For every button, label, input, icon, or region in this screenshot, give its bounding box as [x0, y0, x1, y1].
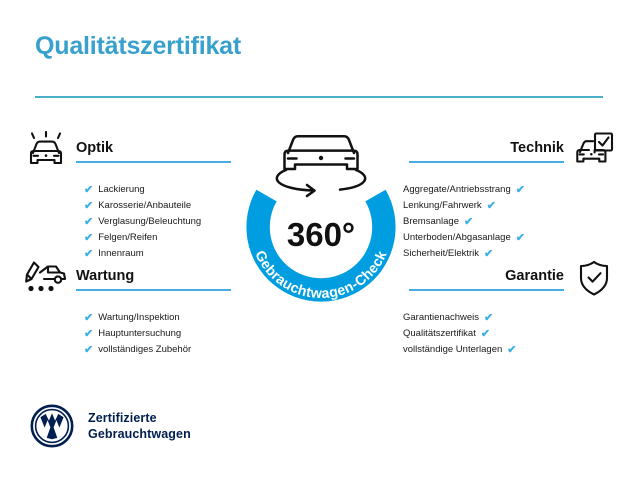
list-item: ✔Karosserie/Anbauteile	[84, 198, 237, 214]
vw-footer: Zertifizierte Gebrauchtwagen	[30, 404, 191, 448]
check-icon: ✔	[84, 185, 93, 196]
list-item: ✔Unterboden/Abgasanlage	[403, 230, 556, 246]
section-title: Optik	[76, 139, 231, 157]
section-header-wartung: Wartung	[22, 256, 237, 302]
check-icon: ✔	[84, 345, 93, 356]
list-item-label: Lenkung/Fahrwerk	[403, 198, 482, 214]
section-technik: Technik ✔Aggregate/Antriebsstrang ✔Lenku…	[403, 128, 618, 262]
check-icon: ✔	[481, 329, 490, 340]
list-item-label: Qualitätszertifikat	[403, 326, 476, 342]
car-rotating-360-icon	[277, 136, 365, 196]
check-icon: ✔	[516, 233, 525, 244]
car-front-checkbox-icon	[570, 129, 618, 173]
list-item: ✔vollständiges Zubehör	[84, 342, 237, 358]
list-item: ✔Lackierung	[84, 182, 237, 198]
section-garantie: Garantie ✔Garantienachweis ✔Qualitätszer…	[403, 256, 618, 358]
section-title-wrap-optik: Optik	[70, 139, 237, 163]
section-divider	[76, 289, 231, 291]
section-divider	[409, 289, 564, 291]
badge-center-label: 360°	[287, 216, 355, 253]
check-icon: ✔	[464, 217, 473, 228]
vw-logo-icon	[30, 404, 74, 448]
list-item-label: Unterboden/Abgasanlage	[403, 230, 511, 246]
checklist-garantie: ✔Garantienachweis ✔Qualitätszertifikat ✔…	[403, 310, 618, 358]
list-item: ✔vollständige Unterlagen	[403, 342, 556, 358]
shield-check-icon	[570, 257, 618, 301]
list-item-label: Felgen/Reifen	[98, 230, 157, 246]
vw-footer-text: Zertifizierte Gebrauchtwagen	[88, 410, 191, 442]
section-title-wrap-wartung: Wartung	[70, 267, 237, 291]
check-icon: ✔	[516, 185, 525, 196]
list-item: ✔Hauptuntersuchung	[84, 326, 237, 342]
certificate-page: Qualitätszertifikat Optik ✔Lackierung ✔K…	[0, 0, 640, 480]
check-icon: ✔	[84, 217, 93, 228]
check-icon: ✔	[507, 345, 516, 356]
vw-footer-line2: Gebrauchtwagen	[88, 426, 191, 442]
section-divider	[76, 161, 231, 163]
vw-footer-line1: Zertifizierte	[88, 410, 191, 426]
header-divider	[35, 96, 603, 98]
section-title-wrap-garantie: Garantie	[403, 267, 570, 291]
section-header-garantie: Garantie	[403, 256, 618, 302]
list-item: ✔Wartung/Inspektion	[84, 310, 237, 326]
check-icon: ✔	[84, 329, 93, 340]
section-title: Wartung	[76, 267, 231, 285]
list-item-label: Garantienachweis	[403, 310, 479, 326]
checklist-technik: ✔Aggregate/Antriebsstrang ✔Lenkung/Fahrw…	[403, 182, 618, 262]
check-icon: ✔	[487, 201, 496, 212]
check-icon: ✔	[84, 313, 93, 324]
check-icon: ✔	[84, 233, 93, 244]
car-front-shine-icon	[22, 129, 70, 173]
section-wartung: Wartung ✔Wartung/Inspektion ✔Hauptunters…	[22, 256, 237, 358]
list-item-label: vollständige Unterlagen	[403, 342, 502, 358]
page-title: Qualitätszertifikat	[35, 32, 241, 61]
section-title: Technik	[409, 139, 564, 157]
list-item: ✔Qualitätszertifikat	[403, 326, 556, 342]
section-divider	[409, 161, 564, 163]
car-pencil-service-icon	[22, 257, 70, 301]
section-header-technik: Technik	[403, 128, 618, 174]
list-item-label: Verglasung/Beleuchtung	[98, 214, 201, 230]
check-icon: ✔	[484, 313, 493, 324]
section-title-wrap-technik: Technik	[403, 139, 570, 163]
list-item-label: Karosserie/Anbauteile	[98, 198, 191, 214]
list-item-label: Lackierung	[98, 182, 144, 198]
list-item-label: Wartung/Inspektion	[98, 310, 180, 326]
list-item: ✔Felgen/Reifen	[84, 230, 237, 246]
list-item: ✔Verglasung/Beleuchtung	[84, 214, 237, 230]
list-item: ✔Bremsanlage	[403, 214, 556, 230]
checklist-wartung: ✔Wartung/Inspektion ✔Hauptuntersuchung ✔…	[22, 310, 237, 358]
list-item: ✔Aggregate/Antriebsstrang	[403, 182, 556, 198]
list-item-label: vollständiges Zubehör	[98, 342, 191, 358]
list-item-label: Aggregate/Antriebsstrang	[403, 182, 511, 198]
section-optik: Optik ✔Lackierung ✔Karosserie/Anbauteile…	[22, 128, 237, 262]
list-item: ✔Garantienachweis	[403, 310, 556, 326]
check-icon: ✔	[84, 201, 93, 212]
section-title: Garantie	[409, 267, 564, 285]
checklist-optik: ✔Lackierung ✔Karosserie/Anbauteile ✔Verg…	[22, 182, 237, 262]
list-item-label: Hauptuntersuchung	[98, 326, 181, 342]
section-header-optik: Optik	[22, 128, 237, 174]
list-item: ✔Lenkung/Fahrwerk	[403, 198, 556, 214]
badge-360-gebrauchtwagen-check: 360° Gebrauchtwagen-Check	[228, 121, 414, 317]
